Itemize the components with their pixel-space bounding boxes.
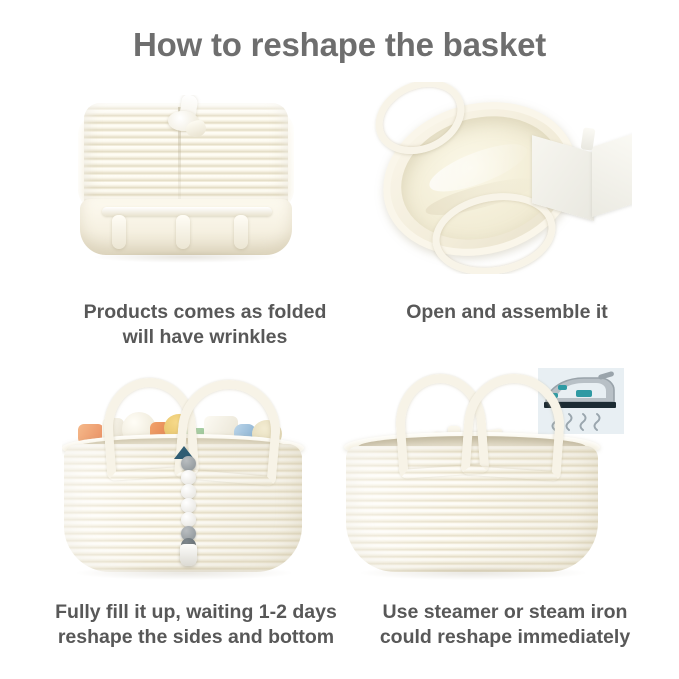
caption-step-3: Fully fill it up, waiting 1-2 days resha… — [22, 600, 370, 650]
caption-line: reshape the sides and bottom — [22, 625, 370, 650]
caption-line: will have wrinkles — [40, 325, 370, 350]
page-title: How to reshape the basket — [0, 26, 679, 64]
open-basket-photo — [370, 82, 632, 274]
caption-line: could reshape immediately — [360, 625, 650, 650]
beaded-pacifier-clip — [180, 456, 198, 566]
caption-step-4: Use steamer or steam iron could reshape … — [360, 600, 650, 650]
caption-line: Products comes as folded — [40, 300, 370, 325]
clip-clasp — [180, 544, 197, 566]
folded-basket-photo — [78, 95, 294, 263]
infographic-page: How to reshape the basket Products comes… — [0, 0, 679, 679]
folded-strap — [176, 215, 190, 249]
caption-step-1: Products comes as folded will have wrink… — [40, 300, 370, 350]
folded-strap — [234, 215, 248, 249]
divider-panel — [532, 128, 632, 224]
caption-step-2: Open and assemble it — [372, 300, 642, 325]
drop-shadow — [92, 251, 280, 263]
caption-line: Use steamer or steam iron — [360, 600, 650, 625]
drop-shadow — [360, 566, 586, 580]
empty-basket-photo — [340, 368, 628, 590]
drop-shadow — [76, 566, 292, 580]
caption-line: Fully fill it up, waiting 1-2 days — [22, 600, 370, 625]
folded-seam — [102, 207, 272, 216]
filled-basket-photo — [62, 370, 314, 590]
folded-knot — [166, 95, 206, 147]
folded-strap — [112, 215, 126, 249]
caption-line: Open and assemble it — [372, 300, 642, 325]
